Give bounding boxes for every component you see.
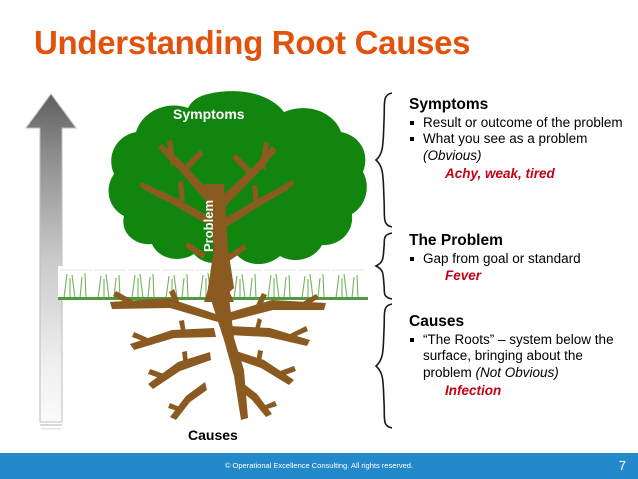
section-problem: The Problem Gap from goal or standard Fe… <box>409 232 631 285</box>
tree-label-causes: Causes <box>188 427 238 443</box>
bullet-square-icon <box>410 257 414 261</box>
slide-canvas: Understanding Root Causes <box>0 0 638 479</box>
tree-label-symptoms: Symptoms <box>173 106 245 122</box>
bullet-item: What you see as a problem (Obvious) <box>409 131 631 164</box>
section-heading: Causes <box>409 313 631 331</box>
bullet-text: Result or outcome of the problem <box>423 115 623 130</box>
section-emphasis: Fever <box>409 268 631 285</box>
bullet-square-icon <box>410 338 414 342</box>
page-title: Understanding Root Causes <box>34 24 470 62</box>
tree-label-problem: Problem <box>201 186 216 266</box>
bullet-text-italic: (Not Obvious) <box>476 365 559 380</box>
bullet-item: Gap from goal or standard <box>409 251 631 268</box>
tree-roots <box>110 289 326 420</box>
section-heading: Symptoms <box>409 96 631 114</box>
footer-copyright: © Operational Excellence Consulting. All… <box>0 453 638 479</box>
bullet-square-icon <box>410 137 414 141</box>
brace-causes <box>374 302 400 430</box>
section-causes: Causes “The Roots” – system below the su… <box>409 313 631 399</box>
bullet-item: Result or outcome of the problem <box>409 115 631 132</box>
footer-page-number: 7 <box>619 453 626 479</box>
section-heading: The Problem <box>409 232 631 250</box>
bullet-text-italic: (Obvious) <box>423 148 482 163</box>
section-emphasis: Infection <box>409 383 631 400</box>
brace-problem <box>374 231 400 301</box>
section-symptoms: Symptoms Result or outcome of the proble… <box>409 96 631 182</box>
footer-bar: © Operational Excellence Consulting. All… <box>0 453 638 479</box>
bullet-text: What you see as a problem <box>423 131 587 146</box>
bullet-text: Gap from goal or standard <box>423 251 581 266</box>
bullet-item: “The Roots” – system below the surface, … <box>409 332 631 382</box>
section-emphasis: Achy, weak, tired <box>409 166 631 183</box>
bullet-square-icon <box>410 121 414 125</box>
brace-symptoms <box>374 91 400 229</box>
